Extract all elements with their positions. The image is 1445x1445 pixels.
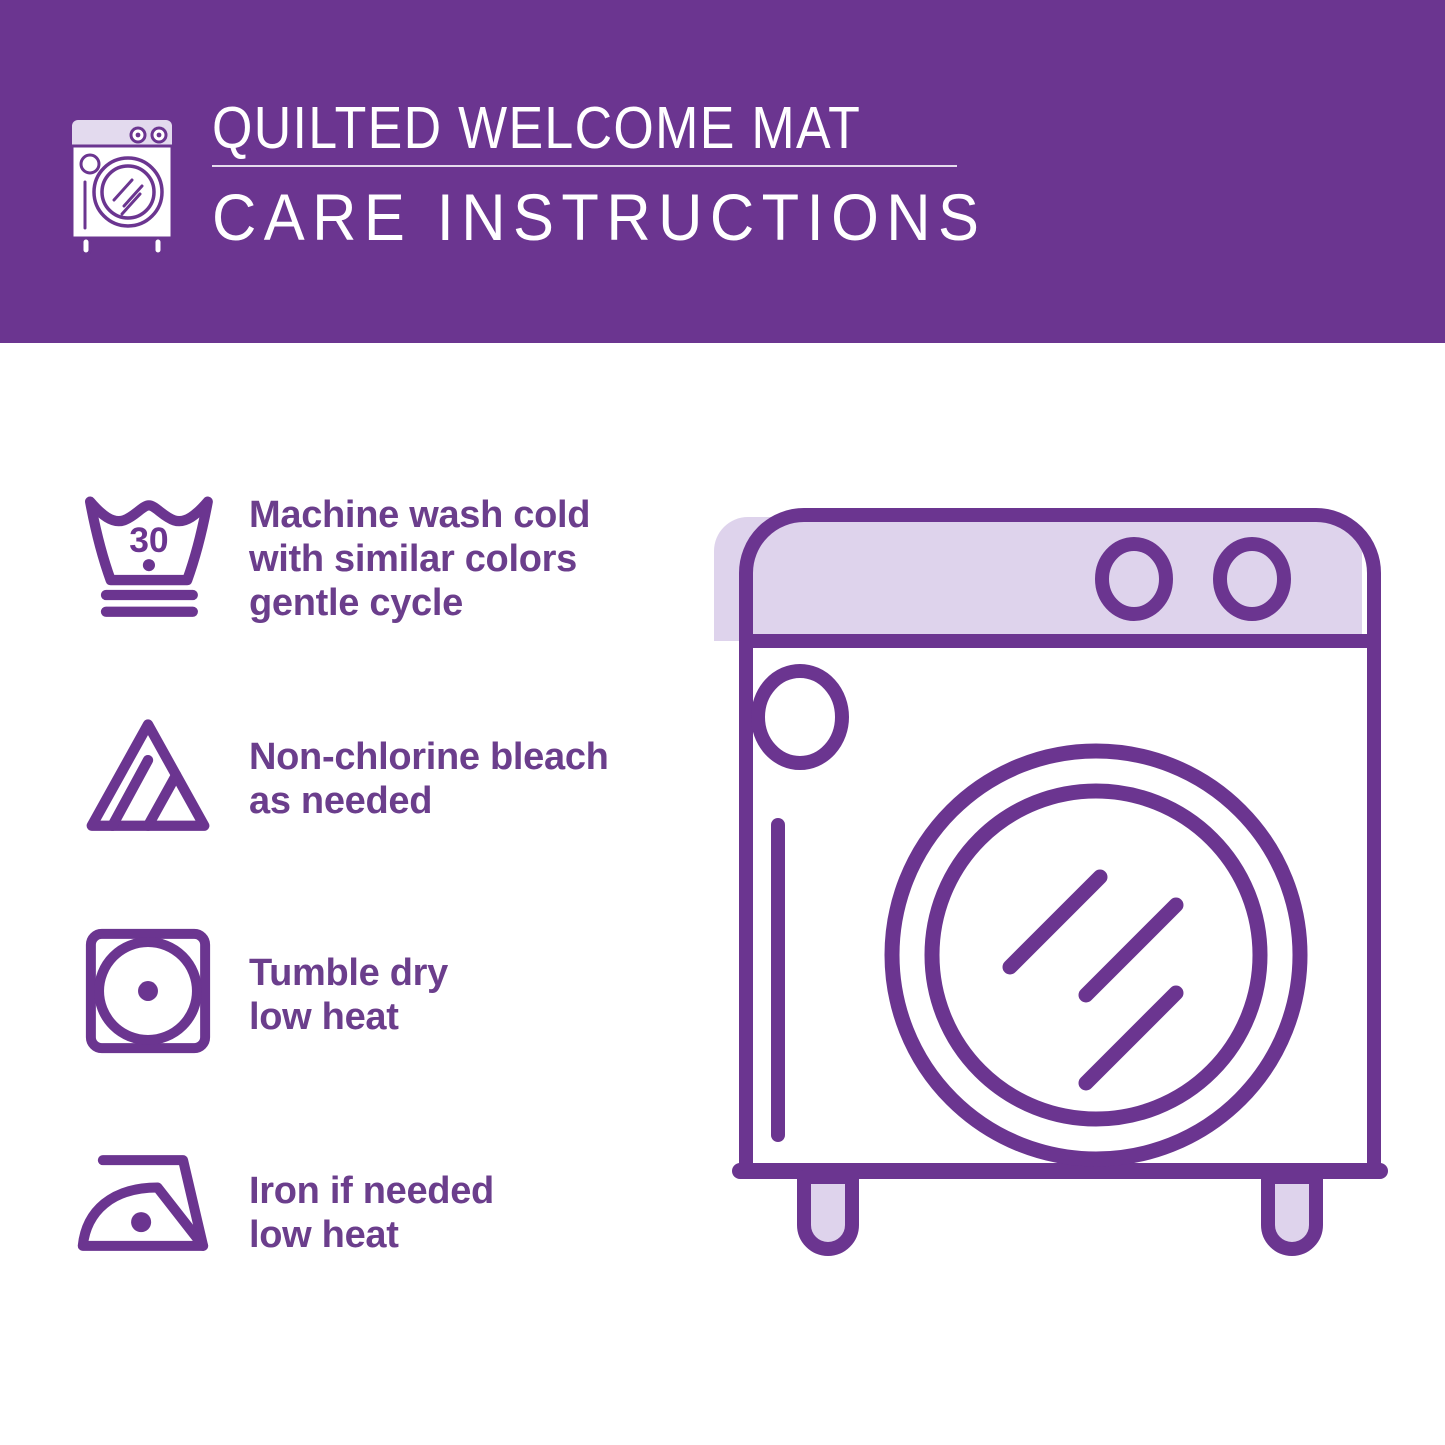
care-label-line: Tumble dry [249, 951, 448, 995]
care-label-line: Non-chlorine bleach [249, 735, 609, 779]
care-label-line: as needed [249, 779, 609, 823]
tumble-dry-icon [60, 923, 235, 1059]
wash-tub-icon: 30 [60, 483, 235, 623]
indicator-circle [758, 671, 842, 763]
care-row-tumble-dry: Tumble dry low heat [60, 923, 680, 1059]
page-subtitle: CARE INSTRUCTIONS [212, 181, 984, 253]
care-row-bleach: Non-chlorine bleach as needed [60, 711, 680, 843]
care-label-line: Iron if needed [249, 1169, 494, 1213]
title-divider [212, 165, 957, 167]
wash-temperature-value: 30 [129, 520, 168, 560]
care-label-iron: Iron if needed low heat [235, 1143, 494, 1257]
care-row-wash: 30 Machine wash cold with similar colors… [60, 483, 680, 625]
care-instructions-page: QUILTED WELCOME MAT CARE INSTRUCTIONS [0, 0, 1445, 1445]
header-content: QUILTED WELCOME MAT CARE INSTRUCTIONS [62, 96, 1062, 266]
care-label-line: with similar colors [249, 537, 590, 581]
care-label-line: low heat [249, 1213, 494, 1257]
bleach-triangle-icon [60, 711, 235, 843]
care-label-bleach: Non-chlorine bleach as needed [235, 711, 609, 823]
washing-machine-icon [62, 102, 182, 262]
iron-icon [60, 1143, 235, 1263]
machine-leg-right [1268, 1177, 1316, 1249]
console-panel-fill [714, 517, 1362, 641]
care-label-tumble-dry: Tumble dry low heat [235, 923, 448, 1039]
drum-swoosh-lines [1010, 877, 1176, 1083]
header-band: QUILTED WELCOME MAT CARE INSTRUCTIONS [0, 0, 1445, 343]
care-instructions-list: 30 Machine wash cold with similar colors… [0, 343, 700, 1445]
care-label-wash: Machine wash cold with similar colors ge… [235, 483, 590, 625]
page-title: QUILTED WELCOME MAT [212, 96, 942, 160]
care-label-line: low heat [249, 995, 448, 1039]
care-row-iron: Iron if needed low heat [60, 1143, 680, 1263]
care-label-line: gentle cycle [249, 581, 590, 625]
washing-machine-illustration [700, 455, 1420, 1385]
machine-leg-left [804, 1177, 852, 1249]
door-outer-ring [892, 751, 1300, 1159]
care-label-line: Machine wash cold [249, 493, 590, 537]
header-titles: QUILTED WELCOME MAT CARE INSTRUCTIONS [212, 96, 1042, 253]
